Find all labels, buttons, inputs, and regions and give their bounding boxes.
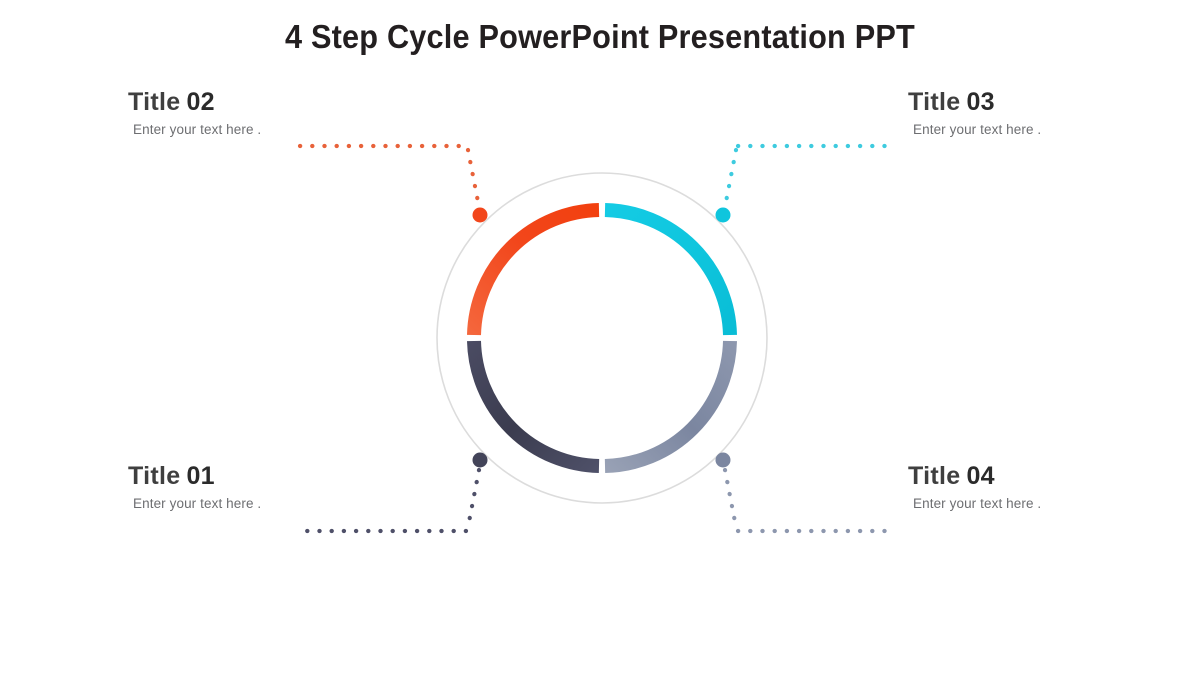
connector-line-step-04-vertical xyxy=(725,470,736,527)
arc-segment-step-03[interactable] xyxy=(605,210,730,335)
connector-step-01 xyxy=(300,453,488,532)
node-dot-step-03[interactable] xyxy=(716,208,731,223)
label-number-step-01: 01 xyxy=(186,462,214,490)
label-title-text-step-01: Title xyxy=(128,462,180,490)
slide-canvas: 4 Step Cycle PowerPoint Presentation PPT xyxy=(0,0,1200,675)
label-subtitle-step-01: Enter your text here . xyxy=(128,496,261,512)
connector-step-02 xyxy=(300,146,488,223)
connector-step-03 xyxy=(716,146,895,223)
node-dot-step-01[interactable] xyxy=(473,453,488,468)
label-subtitle-step-02: Enter your text here . xyxy=(128,122,261,138)
connector-step-04 xyxy=(716,453,895,532)
label-block-step-02[interactable]: Title02 Enter your text here . xyxy=(128,89,261,138)
connector-line-step-01-vertical xyxy=(468,470,479,527)
label-number-step-04: 04 xyxy=(966,462,994,490)
arc-segment-step-04[interactable] xyxy=(605,341,730,466)
node-dot-step-04[interactable] xyxy=(716,453,731,468)
label-number-step-03: 03 xyxy=(966,88,994,116)
outer-guide-ring xyxy=(437,173,767,503)
label-number-step-02: 02 xyxy=(186,88,214,116)
label-subtitle-step-04: Enter your text here . xyxy=(908,496,1041,512)
label-title-text-step-04: Title xyxy=(908,462,960,490)
connector-line-step-03-vertical xyxy=(725,150,736,207)
connector-line-step-02-vertical xyxy=(468,150,479,207)
label-block-step-03[interactable]: Title03 Enter your text here . xyxy=(908,89,1041,138)
label-title-text-step-02: Title xyxy=(128,88,180,116)
label-title-step-02: Title02 xyxy=(128,89,261,115)
label-title-step-01: Title01 xyxy=(128,463,261,489)
label-title-step-03: Title03 xyxy=(908,89,1041,115)
label-block-step-04[interactable]: Title04 Enter your text here . xyxy=(908,463,1041,512)
label-title-step-04: Title04 xyxy=(908,463,1041,489)
label-block-step-01[interactable]: Title01 Enter your text here . xyxy=(128,463,261,512)
label-subtitle-step-03: Enter your text here . xyxy=(908,122,1041,138)
node-dot-step-02[interactable] xyxy=(473,208,488,223)
arc-segment-step-02[interactable] xyxy=(474,210,599,335)
arc-segment-step-01[interactable] xyxy=(474,341,599,466)
label-title-text-step-03: Title xyxy=(908,88,960,116)
